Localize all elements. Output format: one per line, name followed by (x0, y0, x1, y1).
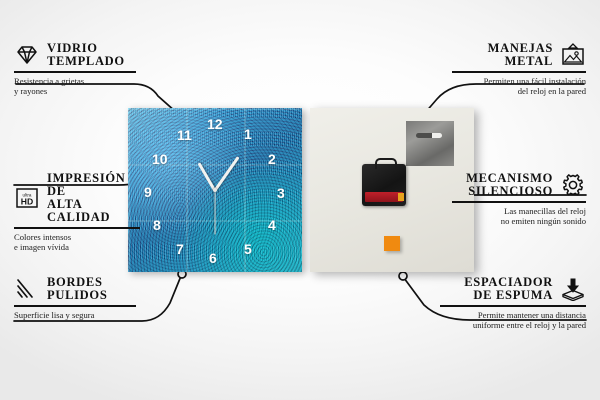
callout-title: MANEJAS METAL (488, 42, 553, 68)
clock-numeral-12: 12 (207, 117, 223, 131)
metal-hanger-plate (406, 121, 454, 166)
callout-espaciador-espuma: ESPACIADOR DE ESPUMA Permite mantener un… (440, 276, 586, 331)
callout-title: IMPRESIÓN DE ALTA CALIDAD (47, 172, 140, 224)
clock-numeral-4: 4 (268, 218, 276, 232)
hanger-slot (416, 133, 442, 138)
clock-minute-hand (214, 156, 240, 192)
ultra-hd-icon: ultra HD (14, 186, 40, 210)
callout-vidrio-templado: VIDRIO TEMPLADO Resistencia a grietas y … (14, 42, 136, 97)
callout-mecanismo-silencioso: MECANISMO SILENCIOSO Las manecillas del … (452, 172, 586, 227)
quartz-mechanism-box (362, 164, 406, 206)
callout-rule (452, 201, 586, 203)
callout-title: BORDES PULIDOS (47, 276, 107, 302)
diamond-icon (14, 43, 40, 67)
callout-title: ESPACIADOR DE ESPUMA (464, 276, 553, 302)
callout-description: Permiten una fácil instalación del reloj… (452, 76, 586, 97)
clock-numeral-2: 2 (268, 152, 276, 166)
callout-bordes-pulidos: BORDES PULIDOS Superficie lisa y segura (14, 276, 136, 320)
callout-description: Colores intensos e imagen vívida (14, 232, 140, 253)
clock-numeral-10: 10 (152, 152, 168, 166)
clock-front-panel: 12 1 2 3 4 5 6 7 8 9 10 11 (128, 108, 302, 272)
clock-second-hand (214, 191, 215, 235)
svg-text:HD: HD (21, 197, 33, 207)
picture-frame-icon (560, 43, 586, 67)
endpoint-espaciador (399, 272, 407, 280)
callout-description: Resistencia a grietas y rayones (14, 76, 136, 97)
callout-rule (14, 305, 136, 307)
clock-numeral-11: 11 (177, 128, 192, 142)
clock-numeral-8: 8 (153, 218, 161, 232)
clock-center-pin (213, 188, 217, 192)
clock-numeral-7: 7 (176, 242, 184, 256)
callout-title: MECANISMO SILENCIOSO (466, 172, 553, 198)
foam-spacer (384, 236, 400, 251)
callout-description: Superficie lisa y segura (14, 310, 136, 321)
clock-numeral-3: 3 (277, 186, 285, 200)
gear-icon (560, 173, 586, 197)
clock-numeral-5: 5 (244, 242, 252, 256)
battery-terminal (398, 193, 404, 201)
clock-back-panel (310, 108, 474, 272)
callout-description: Las manecillas del reloj no emiten ningú… (452, 206, 586, 227)
clock-face: 12 1 2 3 4 5 6 7 8 9 10 11 (128, 108, 302, 272)
mechanism-hook (375, 158, 397, 169)
callout-manejas-metal: MANEJAS METAL Permiten una fácil instala… (452, 42, 586, 97)
callout-rule (14, 227, 140, 229)
callout-title: VIDRIO TEMPLADO (47, 42, 125, 68)
callout-rule (452, 71, 586, 73)
callout-rule (14, 71, 136, 73)
infographic-canvas: 12 1 2 3 4 5 6 7 8 9 10 11 (0, 0, 600, 400)
polished-edges-icon (14, 277, 40, 301)
product-images: 12 1 2 3 4 5 6 7 8 9 10 11 (128, 108, 474, 272)
callout-description: Permite mantener una distancia uniforme … (440, 310, 586, 331)
foam-spacer-icon (560, 277, 586, 301)
clock-numeral-6: 6 (209, 251, 217, 265)
callout-rule (440, 305, 586, 307)
clock-numeral-1: 1 (244, 127, 252, 141)
callout-impresion-alta-calidad: ultra HD IMPRESIÓN DE ALTA CALIDAD Color… (14, 172, 140, 253)
clock-numeral-9: 9 (144, 185, 152, 199)
